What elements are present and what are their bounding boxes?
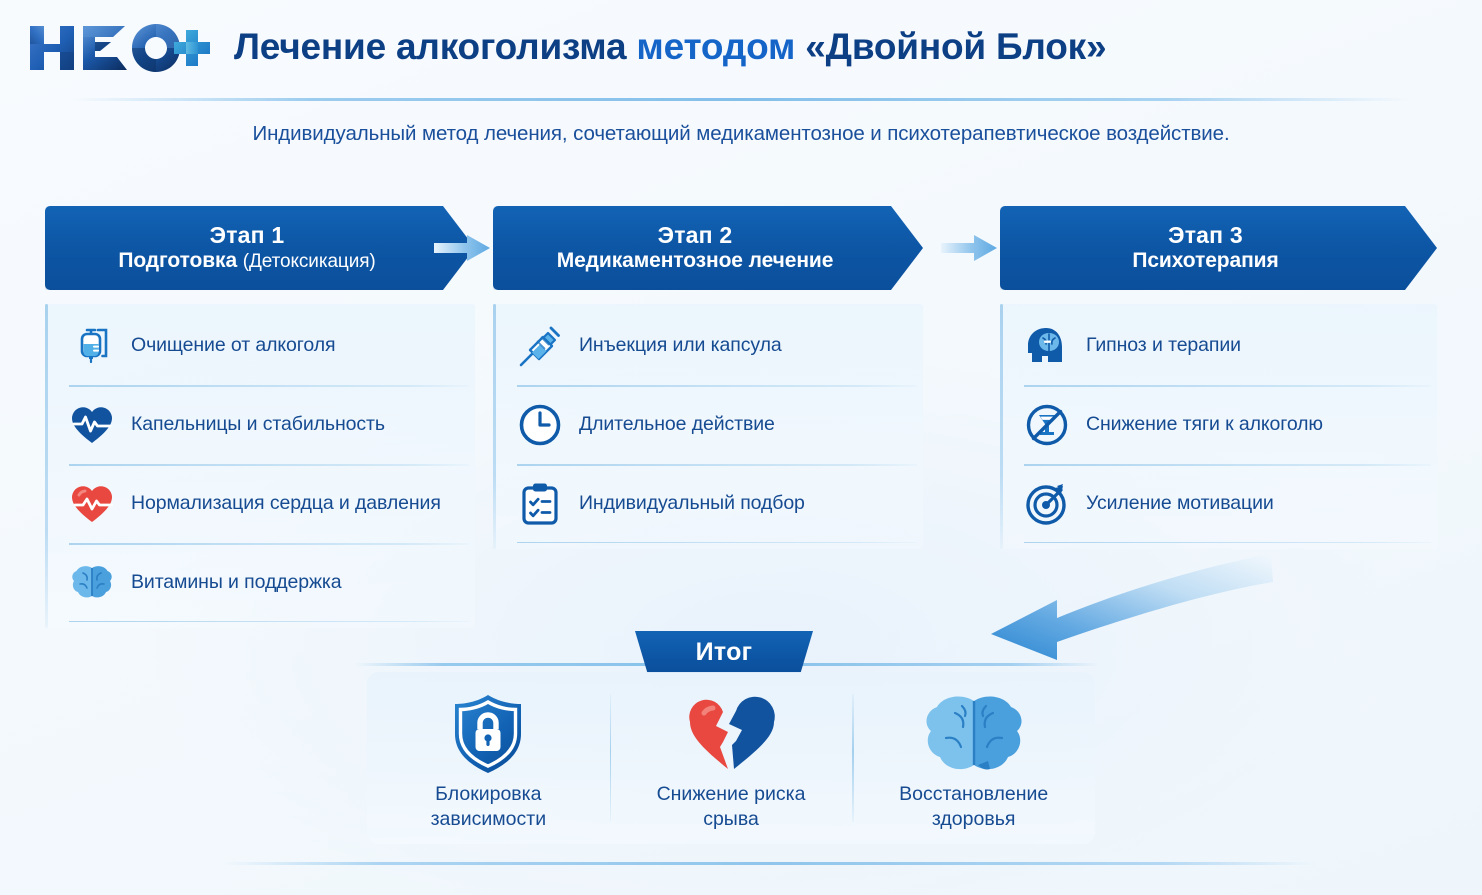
brain-icon [69,560,115,606]
page-title-part-1: Лечение алкоголизма [234,26,626,67]
list-item: Инъекция или капсула [503,306,923,385]
stage-1-title-main: Подготовка [118,249,237,272]
list-item-label: Витамины и поддержка [131,571,342,594]
page-header: Лечение алкоголизма методом «Двойной Бло… [0,0,1482,96]
list-item: Снижение тяги к алкоголю [1010,385,1437,464]
stage-card-3: Этап 3 Психотерапия Гипноз и терапии [1000,206,1437,549]
curved-arrow-stage3-to-result [975,548,1275,663]
list-item: Усиление мотивации [1010,464,1437,543]
arrow-stage2-to-stage3 [941,232,997,264]
list-item: Капельницы и стабильность [55,385,475,464]
list-item-label: Очищение от алкоголя [131,334,335,357]
stage-2-number: Этап 2 [658,223,733,249]
result-card: Блокировка зависимости Снижение риска ср… [367,672,1095,844]
result-badge: Итог [635,631,813,673]
list-item-label: Нормализация сердца и давления [131,492,441,515]
target-arrow-icon [1024,481,1070,527]
result-item-label: Снижение риска срыва [657,782,806,833]
heart-pulse-red-icon [69,481,115,527]
list-item-label: Гипноз и терапии [1086,334,1241,357]
clipboard-check-icon [517,481,563,527]
no-alcohol-icon [1024,402,1070,448]
page-title-part-2: методом [636,26,795,67]
list-item: Очищение от алкоголя [55,306,475,385]
neo-plus-logo [28,20,214,76]
list-item: Индивидуальный подбор [503,464,923,543]
list-item: Нормализация сердца и давления [55,464,475,543]
infographic-page: Лечение алкоголизма методом «Двойной Бло… [0,0,1482,895]
list-item-label: Снижение тяги к алкоголю [1086,413,1323,436]
result-item-label: Блокировка зависимости [431,782,547,833]
clock-icon [517,402,563,448]
stage-1-header: Этап 1 Подготовка (Детоксикация) [45,206,475,290]
arrow-stage1-to-stage2 [434,232,490,264]
list-item-label: Инъекция или капсула [579,334,782,357]
shield-lock-icon [449,696,527,772]
header-divider [70,98,1410,101]
list-item-label: Индивидуальный подбор [579,492,805,515]
stage-1-feature-list: Очищение от алкоголя Капельницы и стабил… [45,304,475,628]
list-item: Длительное действие [503,385,923,464]
list-item-label: Длительное действие [579,413,775,436]
page-title-part-3: «Двойной Блок» [805,26,1106,67]
stage-2-header: Этап 2 Медикаментозное лечение [493,206,923,290]
list-item-label: Усиление мотивации [1086,492,1274,515]
stage-1-title: Подготовка (Детоксикация) [118,249,375,273]
head-brain-icon [1024,323,1070,369]
stage-1-number: Этап 1 [210,223,285,249]
stage-2-title: Медикаментозное лечение [557,249,834,273]
iv-drip-icon [69,323,115,369]
stage-3-header: Этап 3 Психотерапия [1000,206,1437,290]
stage-3-title: Психотерапия [1132,249,1278,273]
result-item-blocking: Блокировка зависимости [367,672,610,844]
list-item: Витамины и поддержка [55,543,475,622]
syringe-icon [517,323,563,369]
stage-2-feature-list: Инъекция или капсула Длительное действие [493,304,923,549]
result-item-relapse-risk: Снижение риска срыва [610,672,853,844]
stage-card-1: Этап 1 Подготовка (Детоксикация) [45,206,475,628]
page-subtitle: Индивидуальный метод лечения, сочетающий… [0,122,1482,146]
list-item-label: Капельницы и стабильность [131,413,385,436]
heart-pulse-blue-icon [69,402,115,448]
stage-card-2: Этап 2 Медикаментозное лечение [493,206,923,549]
result-item-label: Восстановление здоровья [899,782,1048,833]
stages-row: Этап 1 Подготовка (Детоксикация) [45,206,1437,566]
result-item-health-recovery: Восстановление здоровья [852,672,1095,844]
stage-3-feature-list: Гипноз и терапии Снижение тяги к алкогол… [1000,304,1437,549]
stage-3-number: Этап 3 [1168,223,1243,249]
list-item: Гипноз и терапии [1010,306,1437,385]
broken-heart-icon [682,696,780,772]
brain-icon [922,696,1026,772]
stage-1-title-suffix: (Детоксикация) [243,251,376,272]
page-title: Лечение алкоголизма методом «Двойной Бло… [234,28,1106,68]
footer-divider [225,862,1315,865]
